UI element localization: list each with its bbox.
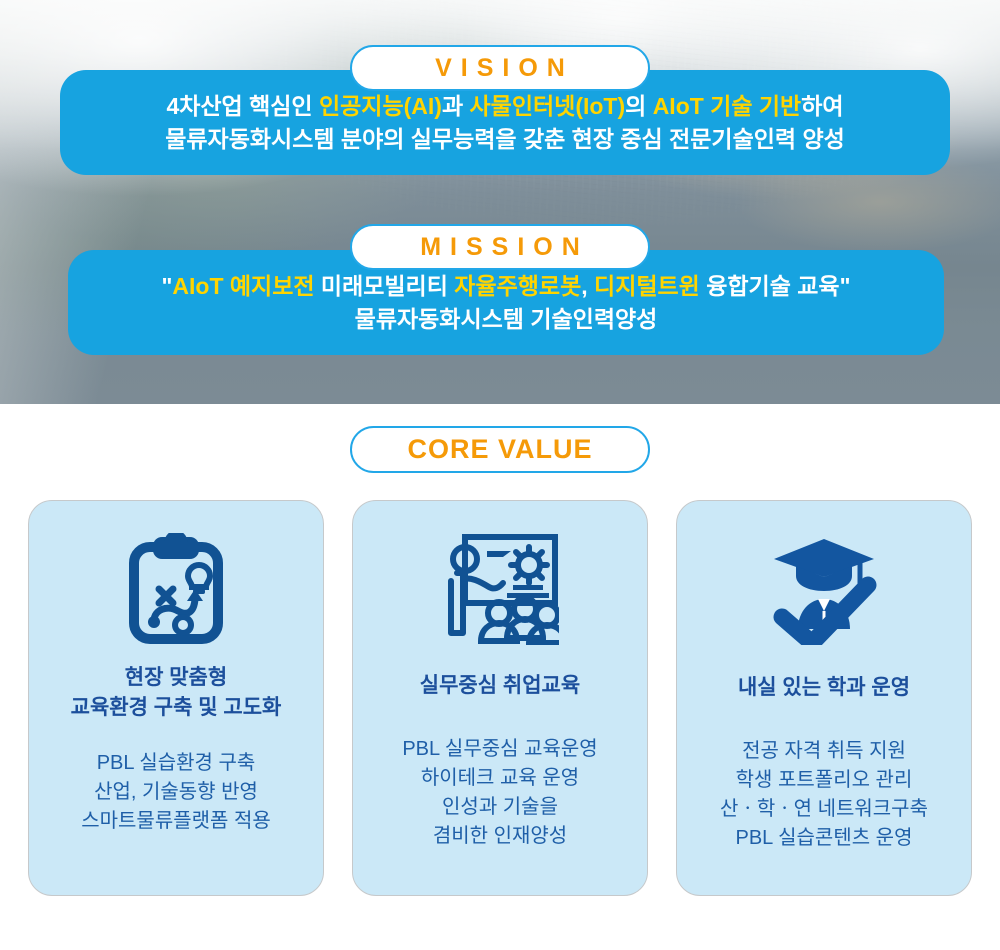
text-line: PBL 실습콘텐츠 운영 <box>736 827 913 849</box>
text-segment: AIoT 기술 기반 <box>653 93 802 119</box>
text-line: 현장 맞춤형 <box>125 666 227 689</box>
core-value-card[interactable]: 실무중심 취업교육 PBL 실무중심 교육운영하이테크 교육 운영인성과 기술을… <box>352 500 648 896</box>
text-segment: 사물인터넷(IoT) <box>470 93 626 119</box>
clipboard-strategy-icon <box>128 529 224 649</box>
text-line: 전공 자격 취득 지원 <box>742 740 906 762</box>
text-segment: 융합기술 교육" <box>700 273 851 299</box>
text-segment: AIoT 예지보전 <box>172 273 314 299</box>
text-segment: 4차산업 핵심인 <box>166 93 319 119</box>
card-title: 실무중심 취업교육 <box>420 671 580 701</box>
text-segment: 디지털트윈 <box>594 273 700 299</box>
text-line: 겸비한 인재양성 <box>433 825 567 847</box>
instructor-presentation-icon <box>441 529 559 649</box>
card-body: PBL 실무중심 교육운영하이테크 교육 운영인성과 기술을겸비한 인재양성 <box>402 735 597 851</box>
text-line: PBL 실무중심 교육운영 <box>402 738 597 760</box>
text-segment: 하여 <box>801 93 843 119</box>
text-line: 산ㆍ학ㆍ연 네트워크구축 <box>720 798 928 820</box>
mission-line-2: 물류자동화시스템 기술인력양성 <box>355 303 658 336</box>
card-body: 전공 자격 취득 지원학생 포트폴리오 관리산ㆍ학ㆍ연 네트워크구축PBL 실습… <box>720 737 928 853</box>
text-line: 교육환경 구축 및 고도화 <box>71 696 282 719</box>
page-root: 4차산업 핵심인 인공지능(AI)과 사물인터넷(IoT)의 AIoT 기술 기… <box>0 0 1000 950</box>
text-segment: 미래모빌리티 <box>315 273 455 299</box>
text-segment: 과 <box>442 93 470 119</box>
text-line: PBL 실습환경 구축 <box>97 752 256 774</box>
text-line: 하이테크 교육 운영 <box>421 767 579 789</box>
core-value-card[interactable]: 현장 맞춤형교육환경 구축 및 고도화 PBL 실습환경 구축산업, 기술동향 … <box>28 500 324 896</box>
mission-line-1: "AIoT 예지보전 미래모빌리티 자율주행로봇, 디지털트윈 융합기술 교육" <box>161 270 850 303</box>
vision-badge: VISION <box>350 45 650 91</box>
card-title: 현장 맞춤형교육환경 구축 및 고도화 <box>71 663 282 723</box>
text-segment: 자율주행로봇 <box>454 273 581 299</box>
mission-badge: MISSION <box>350 224 650 270</box>
text-segment: 물류자동화시스템 기술인력양성 <box>355 306 658 332</box>
vision-line-1: 4차산업 핵심인 인공지능(AI)과 사물인터넷(IoT)의 AIoT 기술 기… <box>166 90 843 123</box>
text-segment: 의 <box>625 93 653 119</box>
card-title: 내실 있는 학과 운영 <box>738 673 910 703</box>
mission-badge-label: MISSION <box>411 233 589 262</box>
text-line: 학생 포트폴리오 관리 <box>736 769 913 791</box>
text-segment: 물류자동화시스템 분야의 실무능력을 갖춘 현장 중심 전문기술인력 양성 <box>165 126 845 152</box>
text-segment: , <box>581 273 594 299</box>
text-line: 인성과 기술을 <box>442 796 558 818</box>
text-line: 스마트물류플랫폼 적용 <box>81 810 271 832</box>
text-segment: 인공지능(AI) <box>319 93 442 119</box>
text-line: 산업, 기술동향 반영 <box>94 781 258 803</box>
vision-badge-label: VISION <box>426 54 574 83</box>
graduate-checkmark-icon <box>768 529 880 649</box>
core-value-card[interactable]: 내실 있는 학과 운영 전공 자격 취득 지원학생 포트폴리오 관리산ㆍ학ㆍ연 … <box>676 500 972 896</box>
vision-line-2: 물류자동화시스템 분야의 실무능력을 갖춘 현장 중심 전문기술인력 양성 <box>165 123 845 156</box>
core-value-card-list: 현장 맞춤형교육환경 구축 및 고도화 PBL 실습환경 구축산업, 기술동향 … <box>0 500 1000 896</box>
text-segment: " <box>161 273 172 299</box>
text-line: 내실 있는 학과 운영 <box>738 676 910 699</box>
card-body: PBL 실습환경 구축산업, 기술동향 반영스마트물류플랫폼 적용 <box>81 749 271 836</box>
core-value-badge-label: CORE VALUE <box>407 434 592 465</box>
core-value-badge: CORE VALUE <box>350 426 650 473</box>
text-line: 실무중심 취업교육 <box>420 674 580 697</box>
